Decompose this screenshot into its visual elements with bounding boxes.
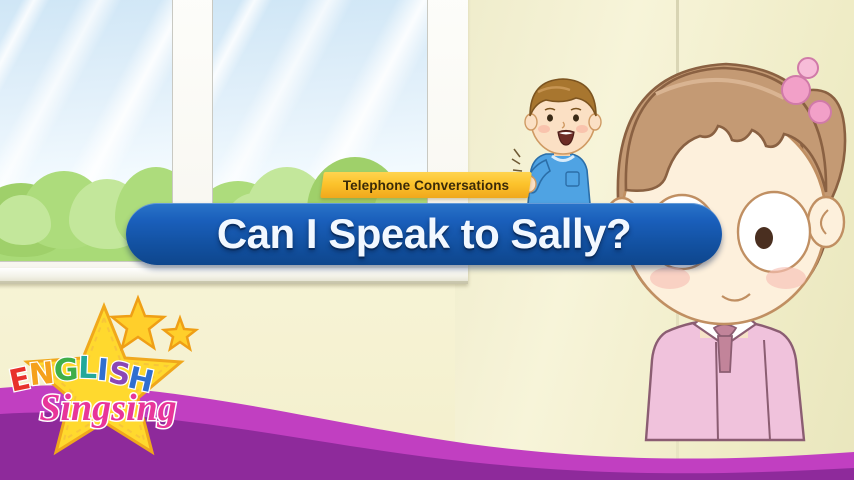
brand-logo[interactable]: E N G L I S H Singsing — [4, 296, 196, 471]
window-sill-shadow — [0, 281, 468, 284]
title-card-scene: Telephone Conversations Can I Speak to S… — [0, 0, 854, 480]
title-text: Can I Speak to Sally? — [217, 210, 631, 258]
category-banner: Telephone Conversations — [320, 172, 532, 198]
logo-singsing-word: Singsing — [18, 386, 198, 430]
logo-letter-l: L — [78, 350, 98, 386]
title-banner: Can I Speak to Sally? — [126, 203, 722, 265]
category-banner-text: Telephone Conversations — [343, 178, 509, 193]
logo-letter-g: G — [53, 352, 79, 388]
